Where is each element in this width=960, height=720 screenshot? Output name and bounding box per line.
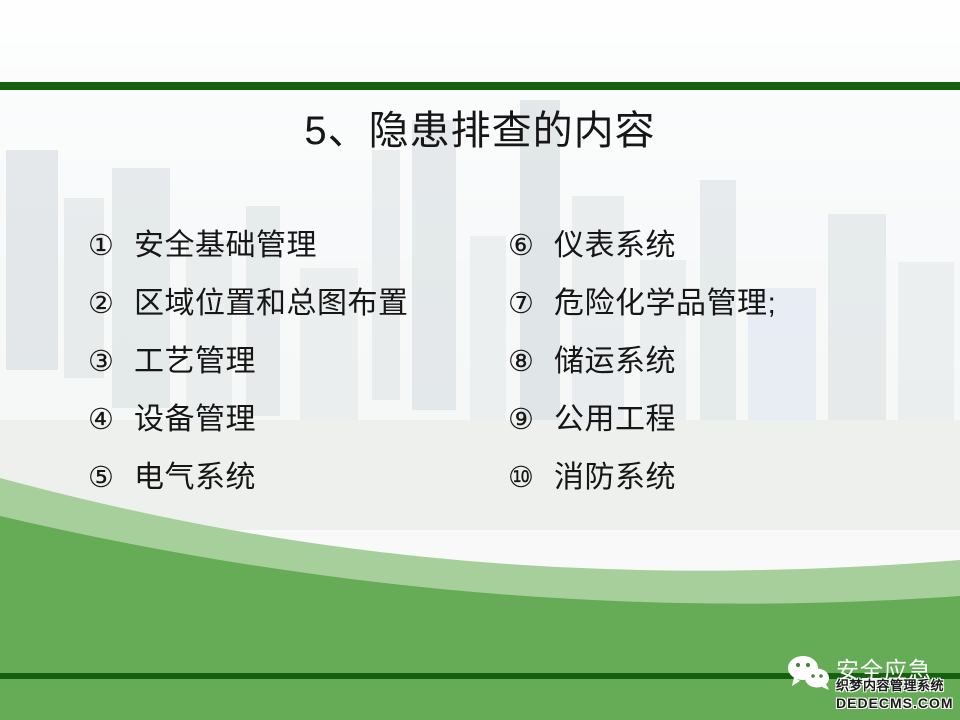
wechat-icon [786, 654, 832, 690]
watermark-line-url: DEDECMS.COM [836, 695, 960, 711]
dedecms-watermark: 织梦内容管理系统 DEDECMS.COM [836, 678, 960, 711]
watermark-line-cn: 织梦内容管理系统 [836, 678, 960, 693]
presentation-slide: 5、隐患排查的内容 ① 安全基础管理 ② 区域位置和总图布置 ③ 工艺管理 ④ … [0, 0, 960, 720]
bottom-curve-decoration [0, 0, 960, 720]
